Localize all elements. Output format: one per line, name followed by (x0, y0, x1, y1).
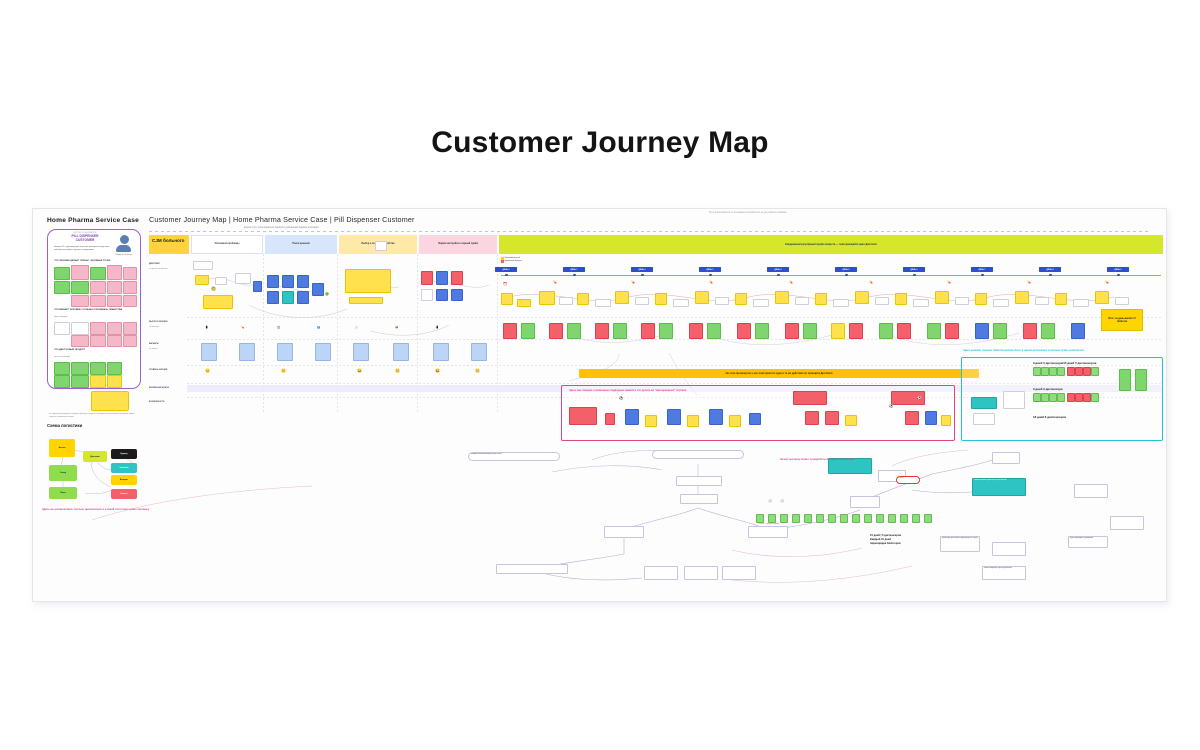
persona-note (90, 281, 106, 294)
sticky-note[interactable] (815, 293, 827, 305)
sticky-note[interactable] (993, 323, 1007, 339)
sticky-note[interactable] (667, 409, 681, 425)
green-band-label: Ежедневный регулярный приём лекарств — п… (499, 235, 1163, 254)
persona-note (71, 362, 89, 375)
sticky-note[interactable] (833, 299, 849, 307)
touchpoint-icon: 👥 (317, 327, 320, 330)
sticky-note[interactable] (955, 297, 969, 305)
row-label-2: МЫСЛИ И ЭМОЦИИ (149, 321, 187, 324)
sticky-note[interactable] (1023, 323, 1037, 339)
flow-side-note-3[interactable]: Нужно переходить в приложение (1068, 536, 1108, 548)
sticky-note[interactable] (1119, 369, 1131, 391)
sticky-note[interactable] (805, 411, 819, 425)
persona-note (71, 322, 89, 335)
emotion-face-icon: 😕 (395, 369, 400, 373)
sticky-note[interactable] (253, 281, 262, 292)
persona-card[interactable]: ПОРТРЕТ ПОЛЬЗОВАТЕЛЯ PILL DISPENSER CUST… (47, 229, 141, 389)
sticky-note[interactable] (282, 275, 294, 288)
sticky-note[interactable] (793, 391, 827, 405)
sticky-note[interactable] (215, 277, 227, 285)
persona-note (90, 362, 106, 375)
persona-note (90, 267, 106, 280)
sticky-note[interactable] (267, 275, 279, 288)
sticky-note[interactable] (993, 299, 1009, 307)
row-label-3: БАРЬЕРЫ (149, 343, 187, 346)
persona-note (54, 322, 70, 335)
legend-label-0: Зона возможностей (505, 257, 520, 259)
sticky-note[interactable] (349, 297, 383, 304)
sticky-note[interactable] (803, 323, 817, 339)
sticky-note[interactable] (645, 415, 657, 427)
dispenser-row-label-1: 9 дней 3 диспенсера (1033, 387, 1063, 391)
persona-card-label: PILL DISPENSER CUSTOMER (62, 234, 108, 243)
sticky-note[interactable] (433, 343, 449, 361)
sticky-note[interactable] (312, 283, 324, 296)
persona-section-sub-2: ценности и выгоды (54, 356, 70, 358)
sticky-note[interactable] (297, 275, 309, 288)
page-title: Customer Journey Map (0, 126, 1200, 160)
sticky-note[interactable] (735, 293, 747, 305)
persona-note (90, 322, 106, 335)
persona-section-sub-1: боли и барьеры (54, 316, 67, 318)
persona-note (71, 375, 89, 388)
flow-node[interactable] (992, 452, 1020, 464)
legend-swatch-1 (501, 260, 504, 263)
board-topright-note: Путь пользователя от осознания потребнос… (709, 211, 786, 214)
sticky-note[interactable] (451, 271, 463, 285)
touchpoint-icon: 📱 (205, 327, 208, 330)
emoji-icon: 💊 (947, 281, 951, 284)
row-label-5: УРОВЕНЬ ЭМОЦИЙ (149, 369, 187, 372)
sticky-note[interactable] (1095, 291, 1109, 304)
day-chip-6[interactable]: ДЕНЬ 6 (903, 267, 925, 272)
flow-node[interactable] (496, 564, 568, 574)
flow-node[interactable] (684, 566, 718, 580)
sticky-note[interactable] (436, 271, 448, 285)
persona-note (123, 295, 137, 307)
emoji-icon: 💊 (1105, 281, 1109, 284)
emoji-icon: ⚪ (780, 500, 784, 503)
sticky-note[interactable] (1003, 391, 1025, 409)
board-subtitle: Customer Journey Map | Home Pharma Servi… (149, 215, 415, 224)
sticky-note[interactable] (913, 299, 929, 307)
sticky-note[interactable] (635, 297, 649, 305)
emotion-face-icon: 😐 (205, 369, 210, 373)
sticky-note[interactable] (973, 413, 995, 425)
sticky-note[interactable] (825, 411, 839, 425)
sticky-note[interactable] (517, 299, 531, 307)
emoji-icon: 💊 (1027, 281, 1031, 284)
sticky-note[interactable] (297, 291, 309, 304)
day-chip-3[interactable]: ДЕНЬ 3 (699, 267, 721, 272)
touchpoint-icon: 📦 (395, 327, 398, 330)
touchpoint-icon: 💊 (241, 327, 244, 330)
sticky-note[interactable] (709, 409, 723, 425)
dispenser-caption-a: пн вт ср чт пт сб вс (1035, 376, 1048, 377)
flow-node[interactable] (1074, 484, 1108, 498)
sticky-note[interactable] (927, 323, 941, 339)
flow-node[interactable] (1110, 516, 1144, 530)
sticky-note[interactable] (875, 297, 889, 305)
sticky-note[interactable] (715, 297, 729, 305)
persona-note (71, 281, 89, 294)
persona-note (90, 335, 106, 347)
sticky-note[interactable] (655, 293, 667, 305)
touchpoint-icon: 📲 (435, 327, 438, 330)
emoji-icon: ⚽ (917, 397, 921, 400)
board-header: Customer Journey Map | Home Pharma Servi… (149, 212, 1163, 236)
sticky-note[interactable] (625, 409, 639, 425)
flow-node[interactable] (680, 494, 718, 504)
sticky-note[interactable] (267, 291, 279, 304)
sticky-note[interactable] (845, 415, 857, 426)
sticky-note[interactable] (1015, 291, 1029, 304)
row-label-6: ВРЕМЕННАЯ ШКАЛА (149, 387, 187, 390)
emoji-icon: 🟢 (325, 293, 329, 296)
sticky-note[interactable] (421, 289, 433, 301)
persona-note (90, 295, 106, 307)
sticky-note[interactable] (755, 323, 769, 339)
sticky-note[interactable] (935, 291, 949, 304)
sticky-note[interactable] (1035, 297, 1049, 305)
sticky-note[interactable] (695, 291, 709, 304)
persona-note (54, 267, 70, 280)
day-axis (501, 275, 1161, 276)
sticky-note[interactable] (737, 323, 751, 339)
sticky-note[interactable] (567, 323, 581, 339)
sticky-note[interactable] (975, 293, 987, 305)
sticky-note[interactable] (375, 241, 387, 251)
persona-note (123, 267, 137, 280)
row-sub-0: что делает пользователь (149, 269, 187, 271)
row-label-0: что делает пользователь (149, 269, 187, 271)
persona-note (90, 375, 106, 388)
sticky-note[interactable] (615, 291, 629, 304)
sticky-note[interactable] (1115, 297, 1129, 305)
sticky-note[interactable] (879, 323, 893, 339)
sticky-note[interactable] (785, 323, 799, 339)
sticky-note[interactable] (503, 323, 517, 339)
sticky-note[interactable] (659, 323, 673, 339)
sticky-note[interactable] (971, 397, 997, 409)
flow-teal-note[interactable]: Человек открывает диспенсер вне расписан… (972, 478, 1026, 496)
sticky-note[interactable] (729, 415, 741, 427)
bottom-pink-callout: Здесь мы размышляем, сколько диспенсеров… (42, 508, 272, 512)
touchpoint-icon: 🏥 (277, 327, 280, 330)
sticky-note[interactable] (1071, 323, 1085, 339)
emoji-icon: 💊 (789, 281, 793, 284)
persona-note (107, 375, 122, 388)
sticky-note[interactable] (521, 323, 535, 339)
sticky-note[interactable] (905, 411, 919, 425)
row-sub-3: что мешает (149, 349, 187, 351)
emotion-face-icon: 🙂 (281, 369, 286, 373)
sticky-note[interactable] (897, 323, 911, 339)
sticky-note[interactable] (831, 323, 845, 339)
emoji-icon: ⚽ (619, 397, 623, 400)
sticky-note[interactable] (641, 323, 655, 339)
legend: Зона возможностей Критические барьеры (501, 257, 522, 263)
sticky-note[interactable] (673, 299, 689, 307)
sticky-note[interactable] (195, 275, 209, 285)
flow-node[interactable] (676, 476, 722, 486)
sticky-note[interactable] (393, 343, 409, 361)
flow-error-node[interactable]: Ошибка (896, 476, 920, 484)
sticky-note[interactable] (707, 323, 721, 339)
emotion-face-icon: 🙂 (475, 369, 480, 373)
persona-note (54, 281, 70, 294)
sticky-note[interactable] (1055, 293, 1067, 305)
persona-section-label-0: ЧТО ЧЕЛОВЕК ДЕЛАЕТ СЕЙЧАС / БОЛЕВЫЕ ТОЧК… (54, 260, 134, 262)
sticky-note[interactable] (613, 323, 627, 339)
persona-panel: Home Pharma Service Case ПОРТРЕТ ПОЛЬЗОВ… (43, 215, 143, 415)
persona-footer: Исследование проводилось методом глубинн… (49, 413, 137, 418)
repeat-callout-bar: На этом промежутке у нас повторяются одн… (579, 369, 979, 378)
persona-note (71, 335, 89, 347)
persona-note (107, 281, 122, 294)
sticky-note[interactable] (353, 343, 369, 361)
persona-note (71, 295, 89, 307)
bottom-magenta-callout: Зачем человеку может понадобиться открыт… (780, 458, 990, 462)
persona-note (123, 335, 137, 347)
sticky-note[interactable] (282, 291, 294, 304)
flow-node[interactable] (850, 496, 880, 508)
cycle-label: 15 дней | 5 диспенсеров Каждый 15 дней п… (870, 534, 980, 545)
emoji-icon: ⚽ (889, 405, 893, 408)
sticky-note[interactable] (595, 323, 609, 339)
sticky-note[interactable] (1041, 323, 1055, 339)
day-chip-5[interactable]: ДЕНЬ 5 (835, 267, 857, 272)
sticky-note[interactable] (345, 269, 391, 293)
sticky-note[interactable] (895, 293, 907, 305)
sticky-note[interactable] (941, 415, 951, 426)
sticky-note[interactable] (193, 261, 213, 270)
flow-node[interactable] (644, 566, 678, 580)
flow-node[interactable] (748, 526, 788, 538)
row-sub-2: что чувствует (149, 327, 187, 329)
sticky-note[interactable] (775, 291, 789, 304)
sticky-note[interactable] (421, 271, 433, 285)
board-microline: Карта пути пользователя сервиса домашней… (244, 226, 319, 229)
persona-card-sub: Человек 55+, принимающий несколько препа… (54, 246, 112, 251)
header-divider (149, 231, 1149, 232)
sticky-note[interactable] (945, 323, 959, 339)
sticky-note[interactable] (436, 289, 448, 301)
persona-section-label-1: ЧТО МЕШАЕТ ЧЕЛОВЕКУ УСПЕШНО ПРИНИМАТЬ ЛЕ… (54, 309, 134, 311)
day-chip-4[interactable]: ДЕНЬ 4 (767, 267, 789, 272)
persona-title: Home Pharma Service Case (43, 217, 143, 224)
day-chip-7[interactable]: ДЕНЬ 7 (971, 267, 993, 272)
sticky-note[interactable] (315, 343, 331, 361)
sticky-note[interactable] (203, 295, 233, 309)
emoji-icon: 💊 (869, 281, 873, 284)
avatar-caption: Пациент 55–65 лет (112, 254, 136, 256)
sticky-note[interactable] (1135, 369, 1147, 391)
flow-node[interactable] (992, 542, 1026, 556)
persona-note (54, 375, 70, 388)
flow-side-note-2[interactable]: Клиент возвращает пустые диспенсеры (982, 566, 1026, 580)
flow-node[interactable] (604, 526, 644, 538)
cjm-badge: CJM больного (149, 235, 189, 254)
stage-header-3[interactable]: Первая настройка и первый приём (419, 235, 497, 254)
persona-note (123, 281, 137, 294)
emotion-face-icon: 😃 (435, 369, 440, 373)
sticky-note[interactable] (689, 323, 703, 339)
persona-highlight-note (91, 391, 129, 411)
dispenser-row-label-0: 9 дней 3 диспенсера/15 дней 5 диспенсеро… (1033, 361, 1096, 365)
sticky-note[interactable] (239, 343, 255, 361)
flow-top-pill-2[interactable] (652, 450, 744, 459)
emoji-icon: 💊 (553, 281, 557, 284)
sticky-note[interactable] (559, 297, 573, 305)
row-label-4: ВОЗМОЖНОСТИ (149, 401, 187, 404)
sticky-note[interactable] (569, 407, 597, 425)
legend-label-1: Критические барьеры (505, 260, 522, 262)
flow-node[interactable] (722, 566, 756, 580)
persona-note (107, 265, 122, 280)
logistics-title: Схема логистики (47, 423, 151, 428)
sticky-note[interactable] (925, 411, 937, 425)
persona-note (123, 322, 137, 335)
sticky-note[interactable] (549, 323, 563, 339)
emoji-icon: 💊 (631, 281, 635, 284)
day-chip-0[interactable]: ДЕНЬ 0 (495, 267, 517, 272)
cyan-callout-label: Здесь решаем, сколько таблеток должно бы… (963, 349, 1084, 352)
persona-note (107, 362, 122, 375)
day-chip-9[interactable]: ДЕНЬ 9 (1107, 267, 1129, 272)
dispenser-caption-b: утро / вечер (1035, 402, 1043, 403)
dispenser-row-label-2: 18 дней 6 диспенсеров (1033, 415, 1066, 419)
sticky-note[interactable] (577, 293, 589, 305)
sticky-note[interactable] (687, 415, 699, 427)
stage-header-1[interactable]: Поиск решения (265, 235, 337, 254)
sticky-note[interactable] (595, 299, 611, 307)
persona-note (107, 322, 122, 335)
emoji-icon: ⏰ (503, 283, 507, 286)
persona-note (107, 295, 122, 307)
summary-sticky[interactable]: Итог: за день выпито 5 таблеток (1101, 309, 1143, 331)
emotion-face-icon: 😀 (357, 369, 362, 373)
sticky-note[interactable] (855, 291, 869, 304)
day-chip-2[interactable]: ДЕНЬ 2 (631, 267, 653, 272)
persona-note (71, 265, 89, 280)
stage-header-0[interactable]: Осознание проблемы (191, 235, 263, 254)
sticky-note[interactable] (501, 293, 513, 305)
avatar (116, 235, 132, 253)
day-chip-1[interactable]: ДЕНЬ 1 (563, 267, 585, 272)
logistics-flow-section[interactable]: Сценарий использования диспенсера в быту… (32, 430, 1165, 600)
pill-row-caption: 15 ячеек — один цикл приёма (758, 524, 779, 525)
sticky-note[interactable] (795, 297, 809, 305)
emoji-icon: 🧓 (211, 287, 216, 291)
sticky-note[interactable] (605, 413, 615, 425)
sticky-note[interactable] (749, 413, 761, 425)
persona-note (107, 335, 122, 347)
sticky-note[interactable] (539, 291, 555, 305)
sticky-note[interactable] (235, 273, 251, 284)
sticky-note[interactable] (201, 343, 217, 361)
touchpoint-icon: 🛒 (355, 327, 358, 330)
persona-note (54, 362, 70, 375)
persona-section-label-2: ЧТО ДАЁТ НОВЫЙ ПРОДУКТ (54, 349, 134, 351)
sticky-note[interactable] (451, 289, 463, 301)
sticky-note[interactable] (753, 299, 769, 307)
sticky-note[interactable] (849, 323, 863, 339)
sticky-note[interactable] (471, 343, 487, 361)
sticky-note[interactable] (277, 343, 293, 361)
sticky-note[interactable] (975, 323, 989, 339)
row-label-0b: ДЕЙСТВИЯ (149, 263, 187, 266)
flow-top-pill[interactable]: Сценарий использования диспенсера в быту (468, 452, 560, 461)
emoji-icon: 💊 (709, 281, 713, 284)
pink-callout-label: Здесь мы говорим о возможных подводных к… (569, 389, 759, 393)
emoji-icon: ⚪ (768, 500, 772, 503)
day-chip-8[interactable]: ДЕНЬ 8 (1039, 267, 1061, 272)
sticky-note[interactable] (1073, 299, 1089, 307)
